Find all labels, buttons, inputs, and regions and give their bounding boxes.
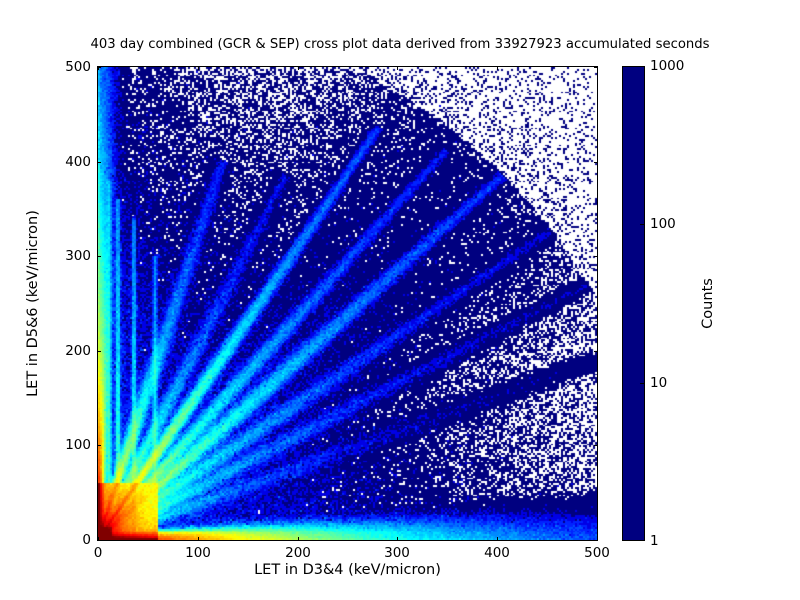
colorbar-tick-label: 10 — [650, 375, 667, 391]
chart-title-line-1: 403 day combined (GCR & SEP) cross plot … — [0, 37, 800, 54]
y-tick-mark-right — [594, 256, 598, 257]
x-tick-mark-top — [198, 66, 199, 70]
colorbar — [622, 66, 645, 541]
colorbar-tick-mark — [640, 224, 645, 225]
colorbar-tick-label: 1 — [650, 533, 659, 549]
x-tick-mark-top — [497, 66, 498, 70]
heatmap-data-layer — [98, 67, 597, 540]
colorbar-tick-label: 1000 — [650, 58, 684, 74]
x-tick-label: 200 — [285, 545, 311, 561]
y-tick-mark-right — [594, 351, 598, 352]
y-tick-mark — [97, 67, 101, 68]
x-tick-mark — [198, 537, 199, 541]
x-tick-label: 500 — [584, 545, 610, 561]
colorbar-tick-mark — [640, 383, 645, 384]
x-tick-mark-top — [397, 66, 398, 70]
y-tick-mark-right — [594, 162, 598, 163]
x-tick-mark — [397, 537, 398, 541]
colorbar-title-wrap: Counts — [700, 66, 720, 541]
y-tick-mark — [97, 351, 101, 352]
plot-axes — [97, 66, 598, 541]
x-tick-label: 400 — [484, 545, 510, 561]
x-tick-mark — [298, 537, 299, 541]
y-axis-label: LET in D5&6 (keV/micron) — [25, 66, 41, 541]
y-axis-label-wrap: LET in D5&6 (keV/micron) — [25, 66, 45, 541]
x-tick-label: 0 — [94, 545, 103, 561]
y-tick-mark — [97, 445, 101, 446]
x-tick-label: 300 — [384, 545, 410, 561]
y-tick-mark-right — [594, 445, 598, 446]
colorbar-tick-label: 100 — [650, 216, 676, 232]
x-tick-mark — [497, 537, 498, 541]
figure-canvas: 403 day combined (GCR & SEP) cross plot … — [0, 0, 800, 600]
x-axis-label: LET in D3&4 (keV/micron) — [97, 562, 598, 578]
x-tick-mark-top — [298, 66, 299, 70]
colorbar-gradient — [623, 67, 644, 540]
y-tick-mark — [97, 256, 101, 257]
y-tick-mark-right — [594, 67, 598, 68]
y-tick-mark — [97, 540, 101, 541]
y-tick-mark-right — [594, 540, 598, 541]
y-tick-mark — [97, 162, 101, 163]
colorbar-title: Counts — [700, 66, 716, 541]
x-tick-label: 100 — [185, 545, 211, 561]
